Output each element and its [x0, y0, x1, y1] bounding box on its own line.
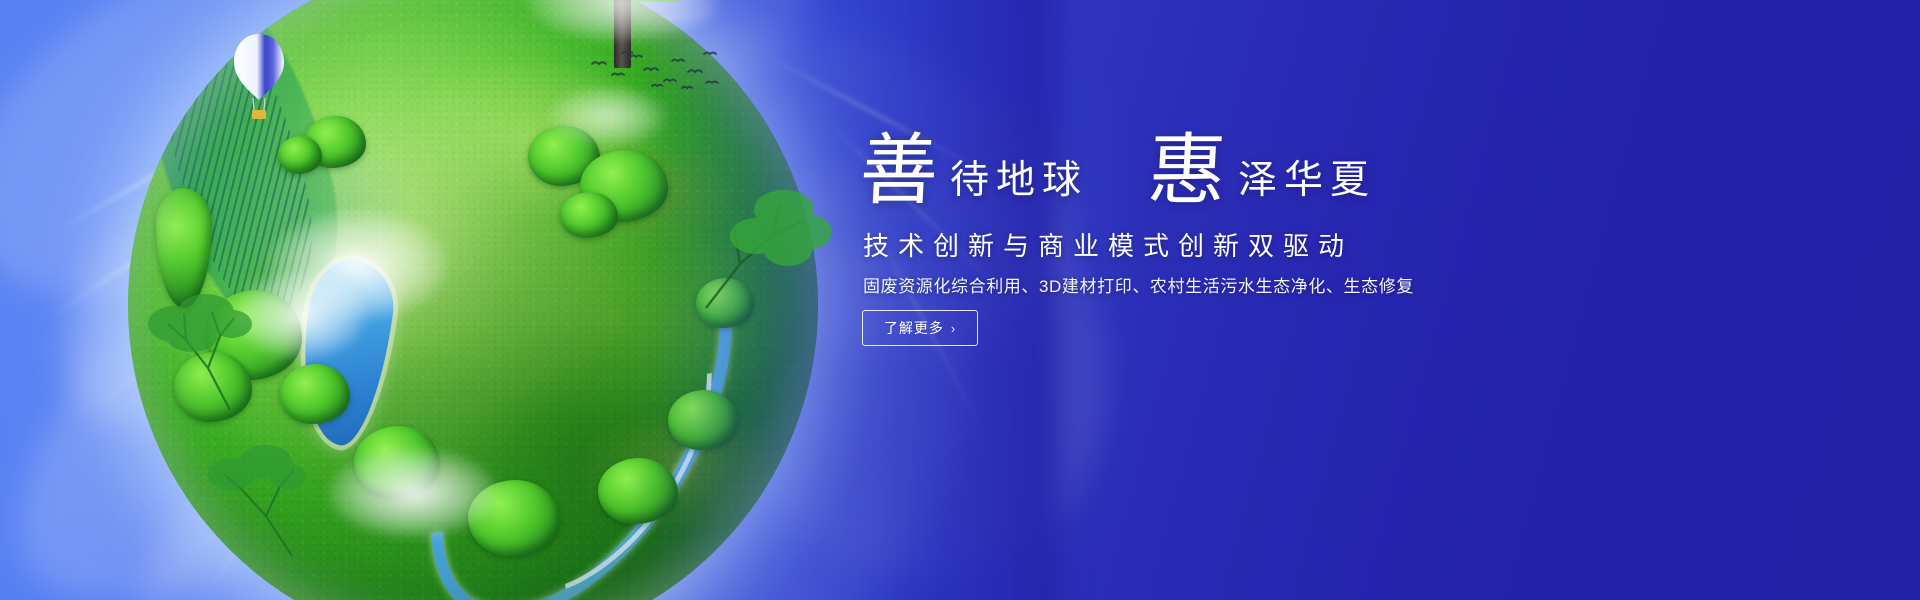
banner-description: 固废资源化综合利用、3D建材打印、农村生活污水生态净化、生态修复	[863, 272, 1414, 297]
rim-tree-icon	[188, 430, 308, 560]
banner-content: 善 待地球 惠 泽华夏 技术创新与商业模式创新双驱动 固废资源化综合利用、3D建…	[860, 0, 1860, 600]
hero-banner: 善 待地球 惠 泽华夏 技术创新与商业模式创新双驱动 固废资源化综合利用、3D建…	[0, 0, 1920, 600]
headline-phrase-one: 善 待地球	[860, 136, 1088, 208]
birds-flock-icon	[586, 48, 726, 94]
learn-more-button[interactable]: 了解更多 ›	[862, 310, 978, 346]
headline-phrase-two: 惠 泽华夏	[1148, 136, 1376, 208]
banner-subtitle: 技术创新与商业模式创新双驱动	[863, 226, 1353, 263]
chevron-right-icon: ›	[951, 321, 956, 336]
hot-air-balloon-icon	[232, 32, 286, 128]
rim-tree-icon	[134, 290, 254, 420]
headline-char-large: 善	[858, 136, 940, 208]
headline-chars-small: 泽华夏	[1238, 161, 1376, 208]
rim-tree-icon	[688, 140, 838, 320]
learn-more-label: 了解更多	[884, 318, 944, 338]
headline-chars-small: 待地球	[950, 161, 1088, 208]
headline: 善 待地球 惠 泽华夏	[860, 136, 1376, 208]
headline-char-large: 惠	[1146, 136, 1228, 208]
